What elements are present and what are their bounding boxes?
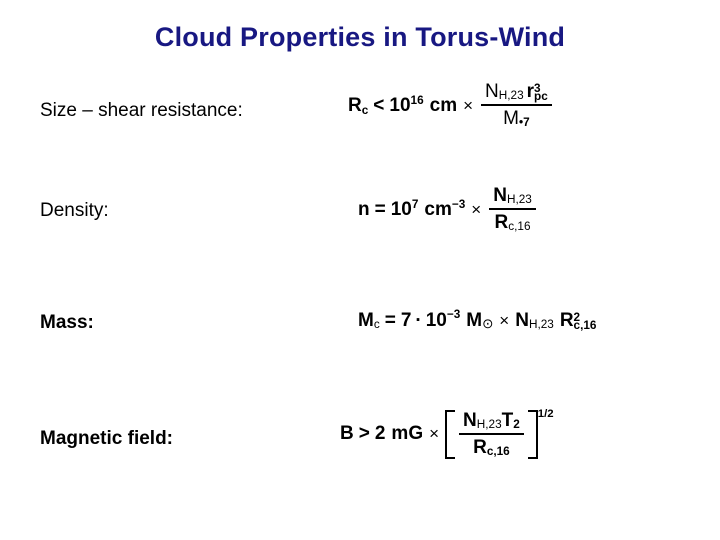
- times-symbol: ×: [499, 311, 509, 331]
- row-label-magnetic-field: Magnetic field:: [40, 428, 173, 450]
- row-label-mass: Mass:: [40, 312, 94, 334]
- formula-mass: Mc = 7 · 10−3 M⊙ × NH,23 R2c,16: [358, 310, 596, 332]
- unit-label: cm: [430, 95, 457, 117]
- formula-magnetic-field: B > 2 mG × NH,23T2 Rc,16 1/2: [340, 410, 554, 459]
- relation-symbol: =: [375, 199, 386, 221]
- formula-density: n = 107 cm−3 × NH,23 Rc,16: [358, 186, 538, 235]
- fraction-denominator: Rc,16: [489, 208, 536, 234]
- dot-operator: ·: [415, 310, 421, 332]
- formula-size: Rc < 1016 cm × NH,23r3pc M•7: [348, 82, 554, 131]
- fraction-numerator: NH,23r3pc: [481, 81, 552, 104]
- row-label-size: Size – shear resistance:: [40, 100, 243, 122]
- solar-mass-unit: M⊙: [466, 310, 493, 332]
- numeric-factor: 7: [401, 310, 412, 332]
- times-symbol: ×: [471, 200, 481, 220]
- formula-lhs: Rc: [348, 95, 368, 117]
- bracket-exponent: 1/2: [538, 408, 554, 420]
- formula-lhs: Mc: [358, 310, 380, 332]
- coefficient: 1016: [389, 95, 423, 117]
- formula-lhs: B: [340, 423, 354, 445]
- coefficient: 10−3: [426, 310, 461, 332]
- fraction: NH,23r3pc M•7: [481, 81, 552, 130]
- coefficient: 2: [375, 423, 386, 445]
- variable-rc16: R2c,16: [560, 310, 597, 332]
- relation-symbol: >: [359, 423, 370, 445]
- fraction-denominator: M•7: [481, 104, 552, 130]
- bracket-left-icon: [445, 410, 455, 459]
- relation-symbol: =: [385, 310, 396, 332]
- unit-label: mG: [391, 423, 423, 445]
- times-symbol: ×: [429, 424, 439, 444]
- coefficient: 107: [391, 199, 419, 221]
- fraction-denominator: Rc,16: [459, 433, 524, 459]
- relation-symbol: <: [373, 95, 384, 117]
- fraction-numerator: NH,23: [489, 185, 536, 208]
- variable-nh23: NH,23: [515, 310, 554, 332]
- fraction: NH,23T2 Rc,16: [459, 410, 524, 459]
- page-title: Cloud Properties in Torus-Wind: [0, 22, 720, 53]
- bracket-right-icon: [528, 410, 538, 459]
- times-symbol: ×: [463, 96, 473, 116]
- fraction-numerator: NH,23T2: [459, 410, 524, 433]
- formula-lhs: n: [358, 199, 370, 221]
- fraction: NH,23 Rc,16: [489, 185, 536, 234]
- bracketed-expression: NH,23T2 Rc,16 1/2: [445, 410, 554, 459]
- unit-label: cm−3: [424, 199, 465, 221]
- slide-canvas: Cloud Properties in Torus-Wind Size – sh…: [0, 0, 720, 540]
- row-label-density: Density:: [40, 200, 109, 222]
